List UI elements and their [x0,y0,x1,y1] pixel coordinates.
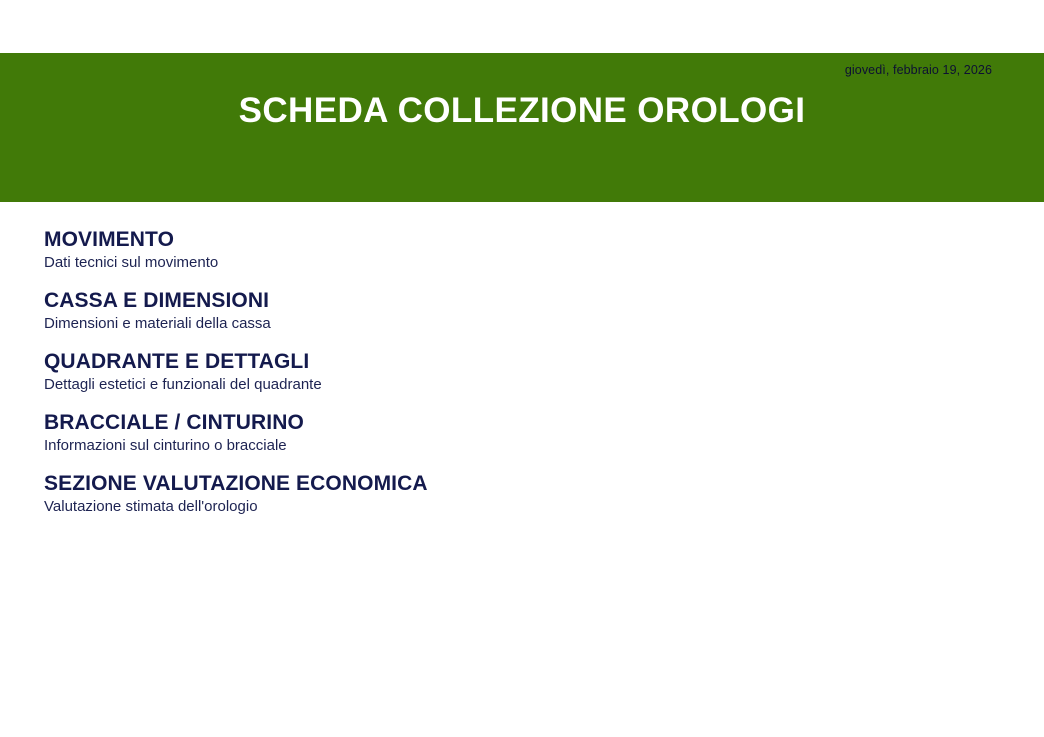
header-date: giovedì, febbraio 19, 2026 [845,63,992,77]
page-title: SCHEDA COLLEZIONE OROLOGI [0,91,1044,131]
section-description: Informazioni sul cinturino o bracciale [44,436,944,456]
section-item-quadrante-e-dettagli: QUADRANTE E DETTAGLI Dettagli estetici e… [44,350,944,395]
section-heading: MOVIMENTO [44,228,944,252]
section-item-cassa-e-dimensioni: CASSA E DIMENSIONI Dimensioni e material… [44,289,944,334]
section-heading: BRACCIALE / CINTURINO [44,411,944,435]
section-description: Dettagli estetici e funzionali del quadr… [44,375,944,395]
section-list: MOVIMENTO Dati tecnici sul movimento CAS… [44,228,944,517]
section-item-sezione-valutazione-economica: SEZIONE VALUTAZIONE ECONOMICA Valutazion… [44,472,944,517]
section-description: Valutazione stimata dell'orologio [44,497,944,517]
document-page: giovedì, febbraio 19, 2026 SCHEDA COLLEZ… [0,0,1044,737]
section-description: Dimensioni e materiali della cassa [44,314,944,334]
section-description: Dati tecnici sul movimento [44,253,944,273]
section-item-movimento: MOVIMENTO Dati tecnici sul movimento [44,228,944,273]
header-banner: giovedì, febbraio 19, 2026 SCHEDA COLLEZ… [0,53,1044,202]
section-item-bracciale-cinturino: BRACCIALE / CINTURINO Informazioni sul c… [44,411,944,456]
section-heading: SEZIONE VALUTAZIONE ECONOMICA [44,472,944,496]
section-heading: QUADRANTE E DETTAGLI [44,350,944,374]
section-heading: CASSA E DIMENSIONI [44,289,944,313]
